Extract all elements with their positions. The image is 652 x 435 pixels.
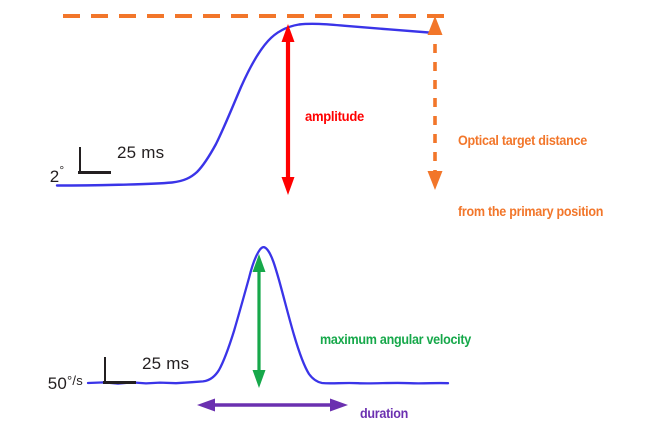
optical-target-distance-line1: Optical target distance — [458, 129, 603, 153]
position-vertical-scale-unit: ° — [59, 163, 64, 177]
velocity-horizontal-scale-label: 25 ms — [142, 353, 189, 374]
velocity-panel — [88, 247, 448, 411]
optical-target-distance-label: Optical target distance from the primary… — [458, 82, 603, 271]
position-panel — [57, 16, 448, 195]
max-angular-velocity-label: maximum angular velocity — [320, 332, 471, 349]
position-horizontal-scale-label: 25 ms — [117, 142, 164, 163]
duration-arrow — [197, 399, 348, 412]
velocity-vertical-scale-label: 50°/s — [28, 352, 83, 416]
optical-target-distance-line2: from the primary position — [458, 200, 603, 224]
position-vertical-scale-value: 2 — [50, 167, 60, 186]
eye-position-trace — [57, 24, 435, 186]
optical-target-distance-arrow — [428, 16, 443, 190]
max-angular-velocity-arrow — [253, 254, 266, 388]
velocity-vertical-scale-value: 50 — [48, 374, 67, 393]
amplitude-arrow — [282, 24, 295, 195]
amplitude-label: amplitude — [305, 108, 364, 126]
duration-label: duration — [360, 406, 408, 423]
position-scale-bar — [78, 147, 111, 173]
saccade-diagram: 2° 25 ms amplitude Optical target distan… — [0, 0, 652, 435]
position-vertical-scale-label: 2° — [30, 142, 64, 209]
velocity-vertical-scale-unit: °/s — [67, 373, 83, 388]
velocity-scale-bar — [103, 357, 136, 383]
